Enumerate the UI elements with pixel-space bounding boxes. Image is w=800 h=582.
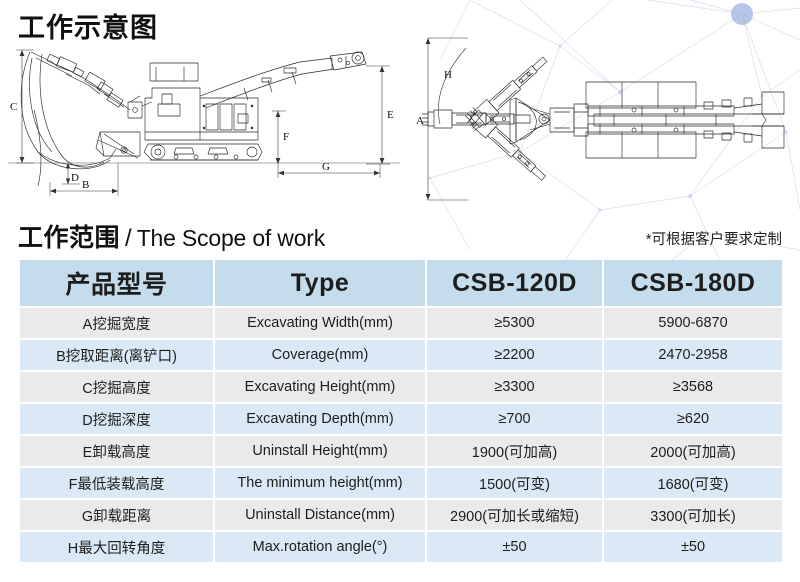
table-row: H最大回转角度Max.rotation angle(°)±50±50 bbox=[20, 532, 782, 562]
table-row: C挖掘高度Excavating Height(mm)≥3300≥3568 bbox=[20, 372, 782, 402]
spec-value-csb-120d: ≥700 bbox=[427, 404, 602, 434]
spec-label-en: Excavating Depth(mm) bbox=[215, 404, 425, 434]
side-elevation-view: C D B F G E bbox=[0, 36, 400, 201]
spec-label-cn: C挖掘高度 bbox=[20, 372, 213, 402]
spec-sheet-page: 工作示意图 bbox=[0, 0, 800, 582]
table-row: F最低装载高度The minimum height(mm)1500(可变)168… bbox=[20, 468, 782, 498]
dimension-label-F: F bbox=[283, 131, 289, 143]
spec-label-en: The minimum height(mm) bbox=[215, 468, 425, 498]
table-header-row: 产品型号 Type CSB-120D CSB-180D bbox=[20, 260, 782, 306]
spec-value-csb-180d: 3300(可加长) bbox=[604, 500, 782, 530]
spec-value-csb-180d: ≥620 bbox=[604, 404, 782, 434]
table-row: D挖掘深度Excavating Depth(mm)≥700≥620 bbox=[20, 404, 782, 434]
spec-value-csb-120d: ≥2200 bbox=[427, 340, 602, 370]
specification-table: 产品型号 Type CSB-120D CSB-180D A挖掘宽度Excavat… bbox=[18, 258, 784, 564]
spec-label-cn: F最低装载高度 bbox=[20, 468, 213, 498]
spec-value-csb-180d: 5900-6870 bbox=[604, 308, 782, 338]
spec-label-cn: A挖掘宽度 bbox=[20, 308, 213, 338]
scope-heading-cn: 工作范围 bbox=[18, 224, 120, 252]
top-plan-view: A H bbox=[404, 28, 800, 208]
spec-value-csb-120d: 1900(可加高) bbox=[427, 436, 602, 466]
table-header-csb-120d: CSB-120D bbox=[427, 260, 602, 306]
spec-label-cn: H最大回转角度 bbox=[20, 532, 213, 562]
dimension-label-H: H bbox=[444, 69, 452, 81]
table-row: A挖掘宽度Excavating Width(mm)≥53005900-6870 bbox=[20, 308, 782, 338]
spec-label-en: Max.rotation angle(°) bbox=[215, 532, 425, 562]
dimension-label-E: E bbox=[387, 109, 394, 121]
customization-note: *可根据客户要求定制 bbox=[646, 228, 782, 249]
spec-label-cn: G卸载距离 bbox=[20, 500, 213, 530]
page-title: 工作示意图 bbox=[18, 6, 158, 45]
network-hub-node bbox=[731, 3, 753, 25]
spec-value-csb-180d: ≥3568 bbox=[604, 372, 782, 402]
table-header-csb-180d: CSB-180D bbox=[604, 260, 782, 306]
dimension-label-C: C bbox=[10, 101, 17, 113]
dimension-label-A: A bbox=[416, 115, 424, 127]
dimension-label-B: B bbox=[82, 179, 89, 191]
spec-label-cn: B挖取距离(离铲口) bbox=[20, 340, 213, 370]
spec-label-en: Uninstall Distance(mm) bbox=[215, 500, 425, 530]
table-header-type: Type bbox=[215, 260, 425, 306]
spec-value-csb-120d: 2900(可加长或缩短) bbox=[427, 500, 602, 530]
scope-heading: 工作范围/The Scope of work bbox=[18, 218, 325, 254]
spec-value-csb-120d: ±50 bbox=[427, 532, 602, 562]
spec-value-csb-120d: ≥5300 bbox=[427, 308, 602, 338]
spec-label-cn: E卸载高度 bbox=[20, 436, 213, 466]
dimension-label-G: G bbox=[322, 161, 330, 173]
table-row: G卸载距离Uninstall Distance(mm)2900(可加长或缩短)3… bbox=[20, 500, 782, 530]
table-row: B挖取距离(离铲口)Coverage(mm)≥22002470-2958 bbox=[20, 340, 782, 370]
scope-heading-separator: / bbox=[125, 225, 132, 252]
dimension-label-D: D bbox=[71, 172, 79, 184]
spec-value-csb-180d: 2470-2958 bbox=[604, 340, 782, 370]
spec-value-csb-180d: 2000(可加高) bbox=[604, 436, 782, 466]
spec-label-en: Uninstall Height(mm) bbox=[215, 436, 425, 466]
scope-heading-en: The Scope of work bbox=[137, 225, 325, 251]
spec-label-cn: D挖掘深度 bbox=[20, 404, 213, 434]
spec-value-csb-120d: 1500(可变) bbox=[427, 468, 602, 498]
spec-label-en: Excavating Width(mm) bbox=[215, 308, 425, 338]
spec-value-csb-180d: 1680(可变) bbox=[604, 468, 782, 498]
spec-value-csb-180d: ±50 bbox=[604, 532, 782, 562]
spec-label-en: Excavating Height(mm) bbox=[215, 372, 425, 402]
spec-value-csb-120d: ≥3300 bbox=[427, 372, 602, 402]
spec-label-en: Coverage(mm) bbox=[215, 340, 425, 370]
table-row: E卸载高度Uninstall Height(mm)1900(可加高)2000(可… bbox=[20, 436, 782, 466]
table-header-model: 产品型号 bbox=[20, 260, 213, 306]
